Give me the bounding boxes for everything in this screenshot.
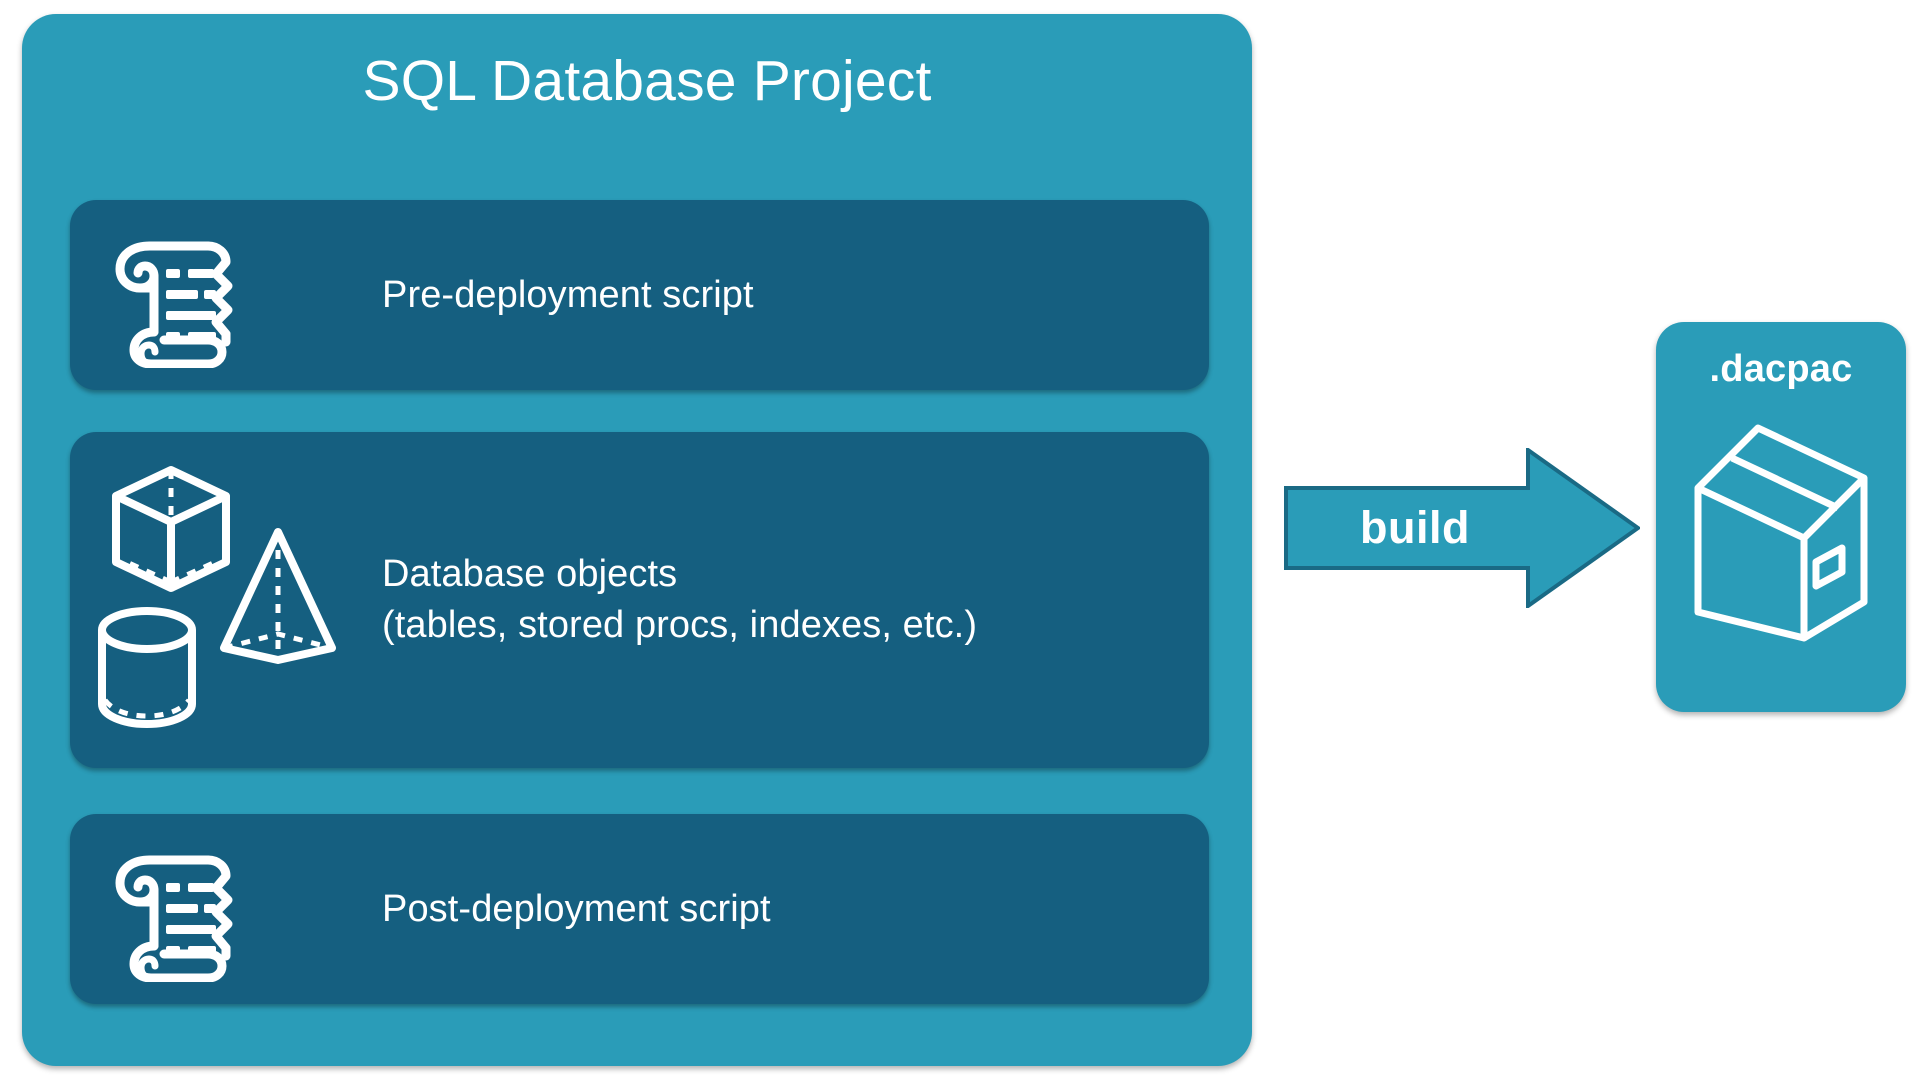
card-pre-deployment-label: Pre-deployment script [382,270,754,321]
dacpac-title: .dacpac [1656,348,1906,391]
page-title: SQL Database Project [22,50,1252,114]
scroll-icon [98,836,246,982]
diagram-canvas: SQL Database Project [0,0,1920,1080]
pre-deployment-icon-group [70,200,382,390]
database-objects-icon-group [70,432,382,768]
card-post-deployment-script[interactable]: Post-deployment script [70,814,1209,1004]
build-arrow-icon [1284,448,1640,608]
card-post-deployment-label: Post-deployment script [382,884,771,935]
card-pre-deployment-script[interactable]: Pre-deployment script [70,200,1209,390]
package-box-icon [1688,420,1874,646]
dacpac-output-panel[interactable]: .dacpac [1656,322,1906,712]
pyramid-icon [210,524,346,666]
sql-database-project-panel: SQL Database Project [22,14,1252,1066]
cylinder-icon [92,604,202,732]
post-deployment-icon-group [70,814,382,1004]
card-database-objects-label: Database objects (tables, stored procs, … [382,549,977,651]
scroll-icon [98,222,246,368]
card-database-objects[interactable]: Database objects (tables, stored procs, … [70,432,1209,768]
